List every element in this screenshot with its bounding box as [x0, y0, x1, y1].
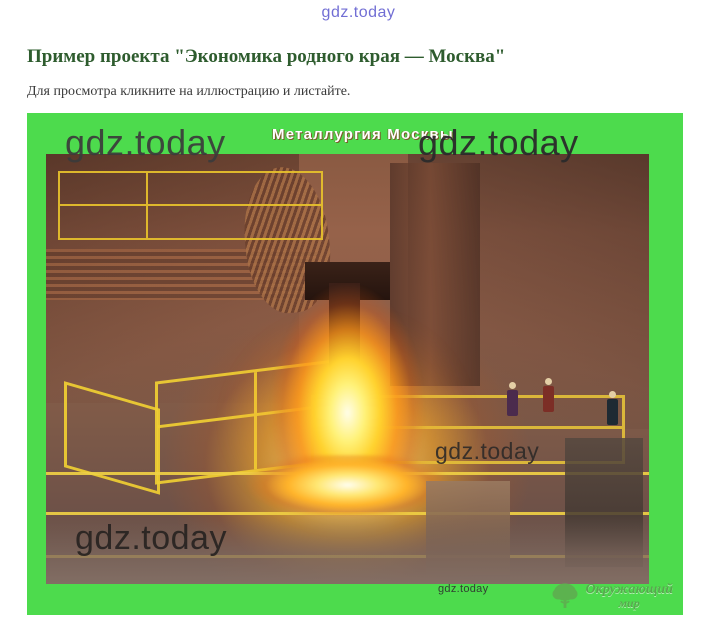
page-title: Пример проекта "Экономика родного края —… — [27, 46, 505, 68]
photo-foreground-floor — [46, 515, 649, 584]
worker-body — [543, 386, 554, 412]
worker-body — [607, 399, 618, 425]
brand-name: Окружающий мир — [586, 583, 674, 610]
photo-worker — [543, 378, 554, 412]
worker-body — [507, 390, 518, 416]
watermark-bottom-small: gdz.today — [438, 583, 488, 595]
photo-molten-pool — [245, 455, 450, 515]
brand-logo[interactable]: Окружающий мир — [550, 581, 674, 611]
worker-head — [509, 382, 516, 389]
tree-icon — [550, 581, 580, 611]
photo-worker — [507, 382, 518, 416]
photo-worker — [607, 391, 618, 425]
brand-line-1: Окружающий — [586, 582, 674, 597]
page-subtitle: Для просмотра кликните на иллюстрацию и … — [27, 84, 350, 100]
illustration-caption: Металлургия Москвы — [272, 126, 454, 143]
brand-line-2: мир — [586, 597, 674, 609]
illustration-gallery[interactable]: Металлургия Москвы gdz.today gdz.today g… — [27, 113, 683, 615]
photo-upper-railing — [58, 171, 323, 240]
worker-head — [545, 378, 552, 385]
illustration-photo[interactable] — [46, 154, 649, 584]
faint-cutoff-text — [150, 20, 410, 34]
worker-head — [609, 391, 616, 398]
